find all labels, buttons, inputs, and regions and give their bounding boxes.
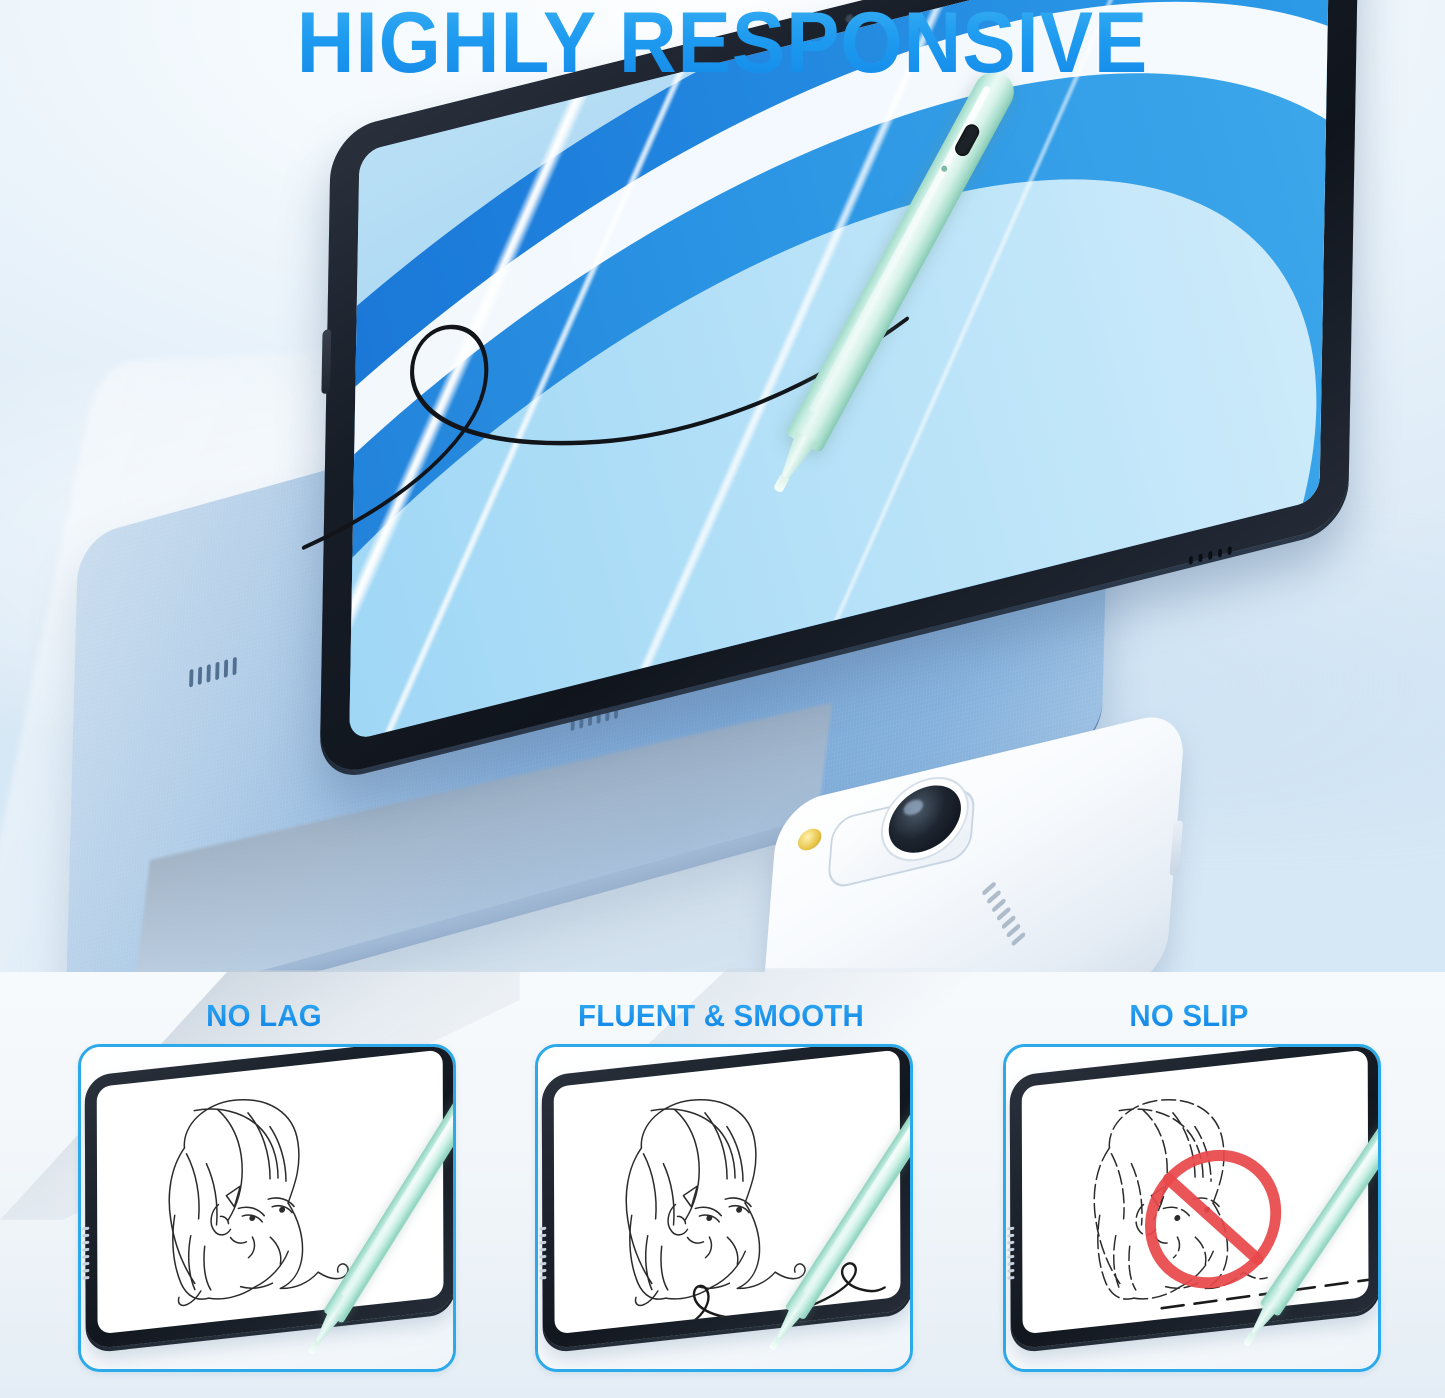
mini-tablet-screen: [554, 1049, 901, 1334]
volume-button-icon: [321, 328, 331, 394]
phone-speaker-grille-icon: [981, 881, 1026, 947]
feature-label-no-lag: NO LAG: [87, 998, 440, 1034]
power-button-icon: [1169, 820, 1183, 877]
feature-panel-no-lag[interactable]: [78, 1044, 456, 1372]
feature-label-fluent-smooth: FLUENT & SMOOTH: [544, 998, 897, 1034]
stylus-tip-icon: [307, 1340, 320, 1356]
stylus-tip-icon: [768, 1336, 781, 1352]
hero-section: HIGHLY RESPONSIVE: [0, 0, 1445, 975]
product-infographic: HIGHLY RESPONSIVE NO LAG FLUENT & SMOOTH…: [0, 0, 1445, 1398]
feature-panel-no-slip[interactable]: [1003, 1044, 1381, 1372]
feature-panel-fluent-smooth[interactable]: [535, 1044, 913, 1372]
page-title: HIGHLY RESPONSIVE: [51, 0, 1395, 93]
stylus-tip-icon: [1243, 1332, 1257, 1348]
mini-speaker-grille-icon: [1007, 1227, 1014, 1280]
mini-speaker-grille-icon: [82, 1227, 89, 1280]
feature-label-no-slip: NO SLIP: [1012, 998, 1365, 1034]
mini-tablet-screen: [1022, 1049, 1369, 1334]
prohibition-sign-icon: [1139, 1137, 1287, 1302]
camera-flash-icon: [797, 826, 822, 853]
mini-speaker-grille-icon: [539, 1227, 546, 1280]
